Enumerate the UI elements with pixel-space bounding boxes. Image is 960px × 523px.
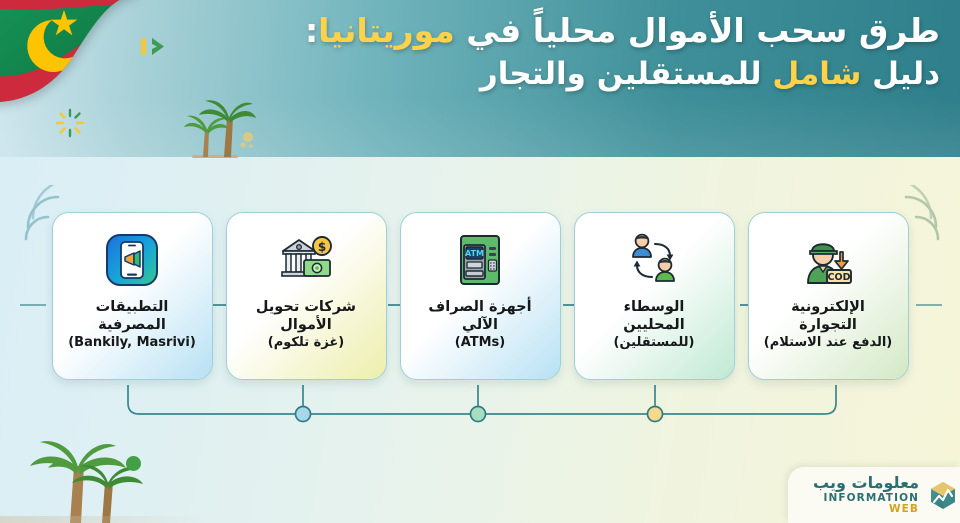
cash-on-delivery-courier-icon: COD	[797, 229, 859, 291]
title-line-1: طرق سحب الأموال محلياً في موريتانيا:	[110, 12, 940, 51]
methods-card-row: التطبيقات المصرفية (Bankily, Masrivi)	[0, 212, 960, 380]
card-title-line-1: التطبيقات	[60, 298, 205, 316]
svg-text:COD: COD	[828, 272, 851, 283]
card-label: الإلكترونية التجوارة (الدفع عند الاستلام…	[749, 298, 908, 352]
money-transfer-bank-icon: $	[275, 229, 337, 291]
card-title-line-1: الإلكترونية	[756, 298, 901, 316]
card-title-line-1: شركات تحويل	[234, 298, 379, 316]
svg-text:ATM: ATM	[465, 249, 484, 258]
card-title-line-1: أجهزة الصراف	[408, 298, 553, 316]
brand-name-english-accent: WEB	[889, 503, 919, 515]
card-subtitle: (ATMs)	[408, 335, 553, 351]
information-web-logo-icon	[926, 478, 960, 512]
card-title-line-2: المحليين	[582, 316, 727, 334]
page-title: طرق سحب الأموال محلياً في موريتانيا: دلي…	[110, 12, 940, 93]
header-banner: طرق سحب الأموال محلياً في موريتانيا: دلي…	[0, 0, 960, 157]
card-atm-machines[interactable]: ATM أجهزة الصراف الآلي (ATMs)	[400, 212, 561, 380]
card-ecommerce-cash-on-delivery[interactable]: COD الإلكترونية التجوارة (الدفع عند الاس…	[748, 212, 909, 380]
brand-logo-text: معلومات ويب INFORMATION WEB	[794, 475, 919, 515]
sand-strip-decor	[0, 516, 210, 523]
card-label: شركات تحويل الأموال (غزة تلكوم)	[227, 298, 386, 352]
card-subtitle: (الدفع عند الاستلام)	[756, 335, 901, 351]
title-line-2-highlight: شامل	[772, 56, 861, 92]
title-line-1-highlight: موريتانيا	[318, 11, 455, 50]
card-title-line-1: الوسطاء	[582, 298, 727, 316]
card-label: أجهزة الصراف الآلي (ATMs)	[401, 298, 560, 352]
card-subtitle: (للمستقلين)	[582, 335, 727, 351]
svg-text:$: $	[318, 240, 326, 254]
card-title-line-2: الأموال	[234, 316, 379, 334]
card-title-line-2: التجوارة	[756, 316, 901, 334]
title-line-2-pre: دليل	[861, 56, 940, 92]
card-label: التطبيقات المصرفية (Bankily, Masrivi)	[53, 298, 212, 352]
card-mobile-banking-apps[interactable]: التطبيقات المصرفية (Bankily, Masrivi)	[52, 212, 213, 380]
header-sheen	[0, 97, 960, 157]
title-line-2: دليل شامل للمستقلين والتجار	[110, 56, 940, 93]
green-circle-decor	[126, 456, 141, 471]
brand-name-english: INFORMATION WEB	[794, 493, 919, 515]
infographic-canvas: طرق سحب الأموال محلياً في موريتانيا: دلي…	[0, 0, 960, 523]
title-line-1-post: :	[305, 11, 318, 50]
brand-name-arabic: معلومات ويب	[794, 475, 919, 492]
card-money-transfer-companies[interactable]: $ شركات تحويل الأموال (غزة تلكوم)	[226, 212, 387, 380]
title-line-2-post: للمستقلين والتجار	[480, 56, 772, 92]
card-local-agents[interactable]: الوسطاء المحليين (للمستقلين)	[574, 212, 735, 380]
palm-trees-icon	[18, 438, 146, 523]
card-label: الوسطاء المحليين (للمستقلين)	[575, 298, 734, 352]
brand-logo[interactable]: معلومات ويب INFORMATION WEB	[788, 467, 960, 523]
local-agents-people-icon	[623, 229, 685, 291]
mobile-banking-app-icon	[101, 229, 163, 291]
atm-machine-icon: ATM	[449, 229, 511, 291]
card-subtitle: (Bankily, Masrivi)	[60, 335, 205, 351]
card-title-line-2: الآلي	[408, 316, 553, 334]
card-title-line-2: المصرفية	[60, 316, 205, 334]
title-line-1-pre: طرق سحب الأموال محلياً في	[455, 11, 940, 50]
card-subtitle: (غزة تلكوم)	[234, 335, 379, 351]
